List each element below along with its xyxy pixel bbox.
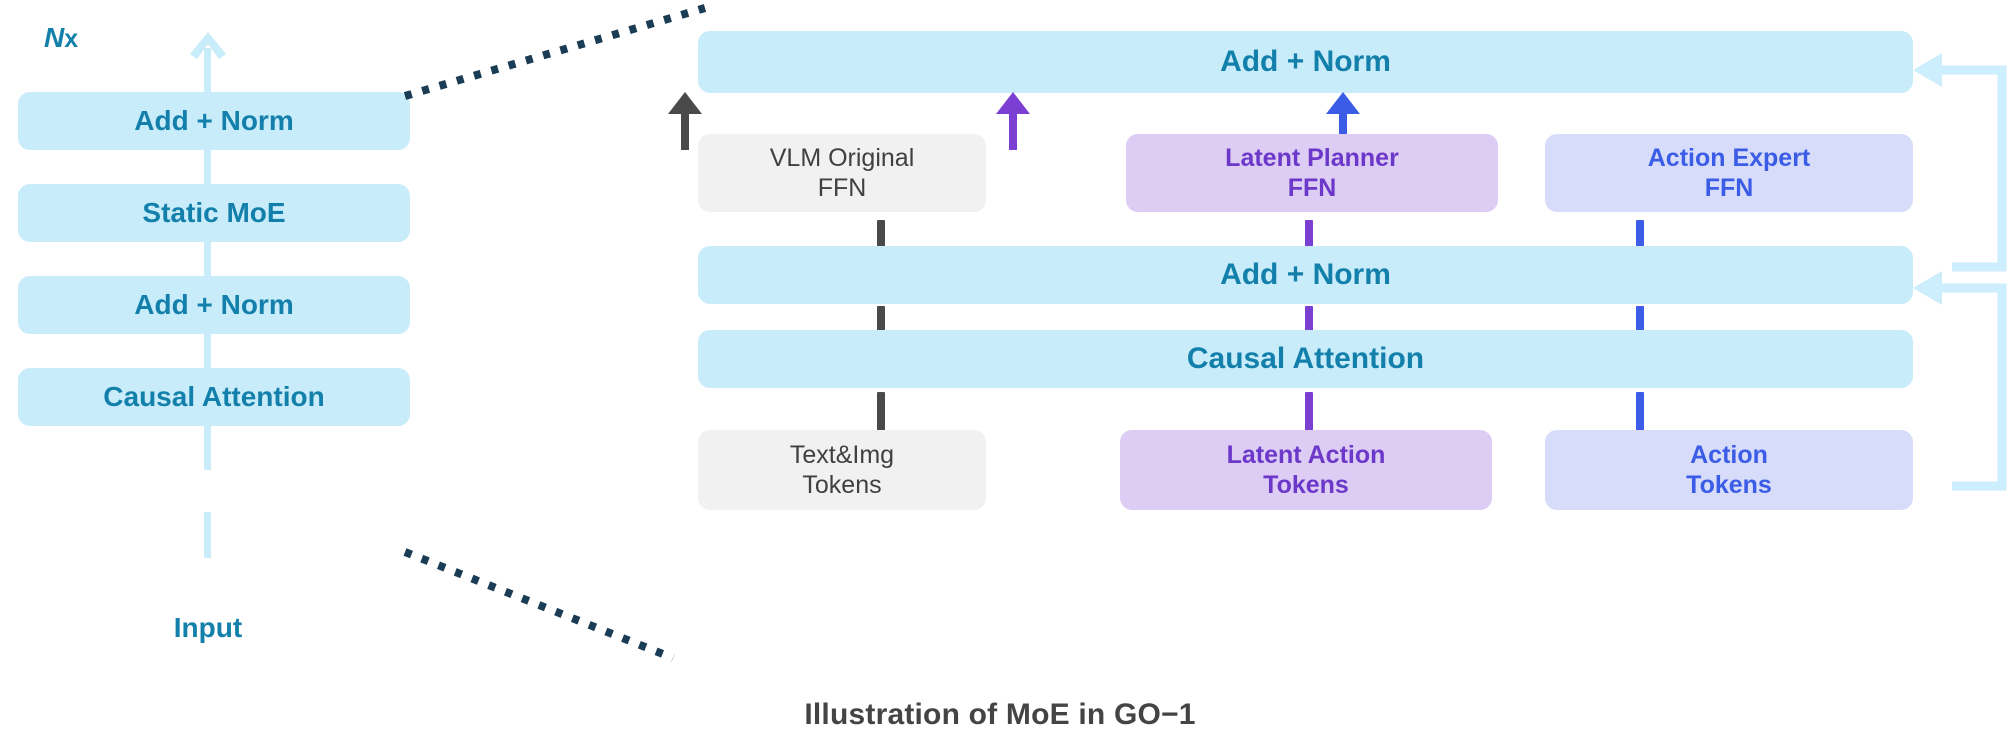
expert-label-line2: FFN (1705, 174, 1754, 202)
repeat-count-n: N (44, 22, 64, 53)
connector-tokens-to-attention-planner (1305, 392, 1313, 432)
diagram-canvas: Nx Add + Norm Static MoE Add + Norm Caus… (0, 0, 2014, 748)
input-label: Input (108, 612, 308, 644)
expert-box-latent-planner-ffn[interactable]: Latent Planner FFN (1126, 134, 1498, 212)
connector-addnorm-to-attention-planner (1305, 306, 1313, 332)
left-block-label: Add + Norm (18, 104, 410, 138)
token-box-text-img-tokens[interactable]: Text&Img Tokens (698, 430, 986, 510)
expert-label-line1: VLM Original (770, 144, 915, 172)
connector-addnorm-to-attention-vlm (877, 306, 885, 332)
expanded-causal-attention[interactable]: Causal Attention (698, 330, 1913, 388)
left-spine-top (204, 48, 211, 98)
left-block-add-norm-top[interactable]: Add + Norm (18, 92, 410, 150)
repeat-count-label: Nx (44, 22, 78, 54)
token-label-line2: Tokens (1686, 471, 1772, 499)
token-label-line2: Tokens (1263, 471, 1349, 499)
expert-box-action-expert-ffn[interactable]: Action Expert FFN (1545, 134, 1913, 212)
expert-label-line2: FFN (1288, 174, 1337, 202)
token-label-line1: Text&Img (790, 441, 894, 469)
left-block-causal-attention[interactable]: Causal Attention (18, 368, 410, 426)
expanded-add-norm-top[interactable]: Add + Norm (698, 31, 1913, 93)
expert-box-vlm-original-ffn[interactable]: VLM Original FFN (698, 134, 986, 212)
token-label-line1: Latent Action (1227, 441, 1386, 469)
expert-label-line1: Latent Planner (1225, 144, 1399, 172)
expanded-add-norm-mid[interactable]: Add + Norm (698, 246, 1913, 304)
ffn-to-addnorm-arrow-planner-icon (990, 92, 1036, 150)
figure-caption: Illustration of MoE in GO−1 (600, 698, 1400, 732)
token-box-action-tokens[interactable]: Action Tokens (1545, 430, 1913, 510)
expanded-add-norm-top-label: Add + Norm (698, 44, 1913, 81)
left-spine-seg-4 (204, 424, 211, 470)
left-block-label: Add + Norm (18, 288, 410, 322)
token-label-line1: Action (1690, 441, 1768, 469)
connector-addnorm-to-attention-action (1636, 306, 1644, 332)
left-block-label: Causal Attention (18, 380, 410, 414)
expert-label-line2: FFN (818, 174, 867, 202)
left-block-static-moe[interactable]: Static MoE (18, 184, 410, 242)
repeat-count-x: x (64, 25, 78, 53)
left-block-add-norm-bottom[interactable]: Add + Norm (18, 276, 410, 334)
connector-tokens-to-attention-action (1636, 392, 1644, 432)
left-spine-bottom (204, 512, 211, 558)
expanded-causal-attention-label: Causal Attention (698, 341, 1913, 378)
connector-tokens-to-attention-vlm (877, 392, 885, 432)
token-box-latent-action-tokens[interactable]: Latent Action Tokens (1120, 430, 1492, 510)
expanded-add-norm-mid-label: Add + Norm (698, 257, 1913, 294)
expert-label-line1: Action Expert (1648, 144, 1811, 172)
token-label-line2: Tokens (802, 471, 881, 499)
residual-loop-lower-icon (1880, 258, 2014, 518)
left-block-label: Static MoE (18, 196, 410, 230)
expansion-guide-bottom-icon (395, 540, 685, 675)
